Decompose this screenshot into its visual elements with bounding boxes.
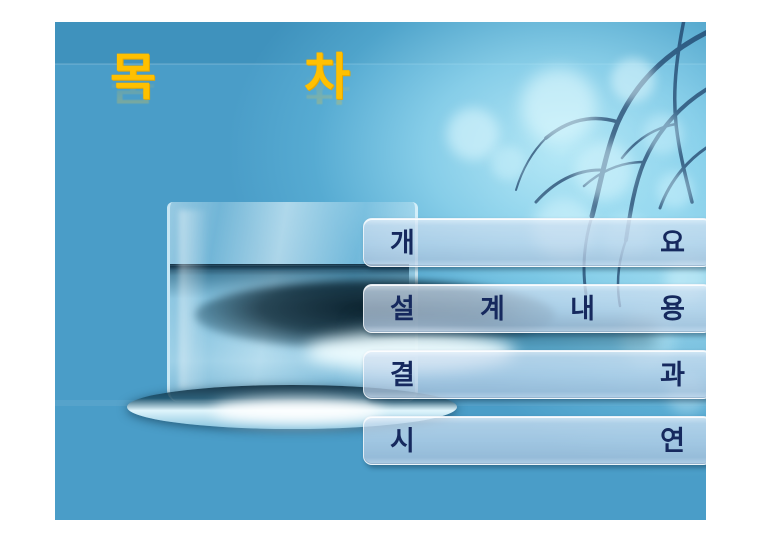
menu-char: 설: [390, 294, 415, 324]
page-title: 목 차: [110, 50, 350, 120]
menu-button-overview[interactable]: 개 요: [363, 218, 706, 267]
glass-highlight: [179, 210, 209, 390]
menu-label-demonstration: 시 연: [390, 426, 685, 456]
menu-char: 결: [390, 360, 415, 390]
title-char: 차: [304, 50, 350, 104]
bokeh-circle: [575, 142, 633, 200]
menu-char: 요: [660, 228, 685, 258]
agenda-menu: 개 요 설 계 내 용 결 과 시: [363, 218, 706, 465]
bokeh-circle: [447, 108, 499, 160]
title-char: 목: [110, 50, 156, 104]
bokeh-circle: [657, 172, 693, 208]
menu-label-results: 결 과: [390, 360, 685, 390]
menu-label-overview: 개 요: [390, 228, 685, 258]
presentation-slide: 목 차 목 차 개 요 설 계 내 용: [0, 0, 760, 537]
menu-button-design-content[interactable]: 설 계 내 용: [363, 284, 706, 333]
menu-char: 개: [390, 228, 415, 258]
menu-char: 내: [570, 294, 595, 324]
menu-char: 연: [660, 426, 685, 456]
slide-canvas: 목 차 목 차 개 요 설 계 내 용: [55, 22, 706, 520]
menu-char: 용: [660, 294, 685, 324]
menu-button-demonstration[interactable]: 시 연: [363, 416, 706, 465]
menu-char: 과: [660, 360, 685, 390]
menu-label-design-content: 설 계 내 용: [390, 294, 685, 324]
menu-char: 시: [390, 426, 415, 456]
menu-char: 계: [480, 294, 505, 324]
bokeh-circle: [491, 146, 525, 180]
bokeh-circle: [643, 114, 683, 154]
menu-button-results[interactable]: 결 과: [363, 350, 706, 399]
bokeh-circle: [521, 68, 597, 144]
